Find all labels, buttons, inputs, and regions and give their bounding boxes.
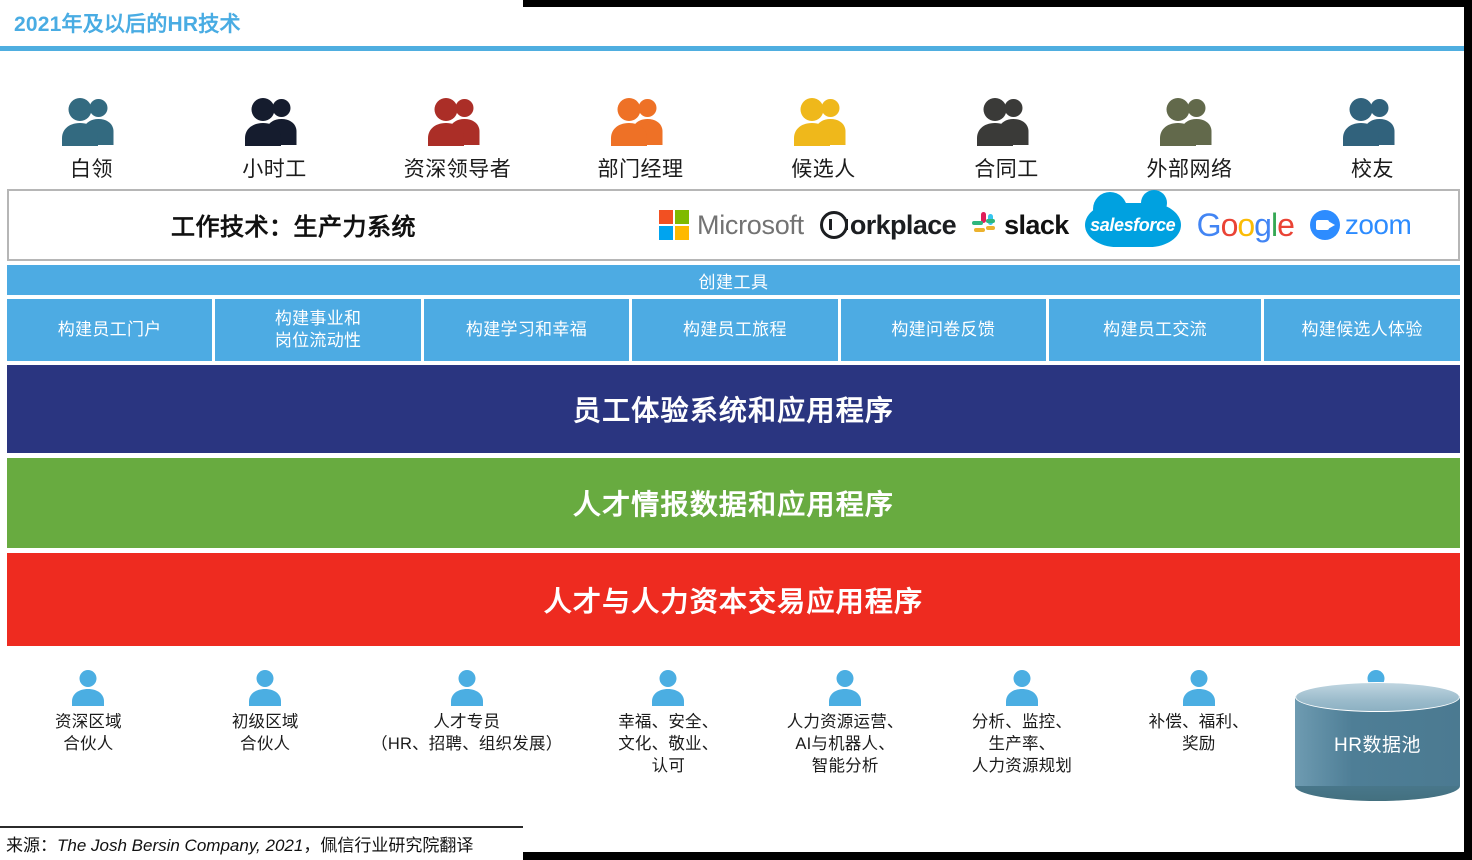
- person-icon: [68, 668, 108, 708]
- role-label: 初级区域 合伙人: [232, 712, 299, 756]
- person-icon: [825, 668, 865, 708]
- people-pair-icon: [975, 95, 1039, 149]
- role-item: 补偿、福利、 奖励: [1110, 660, 1287, 756]
- header: 2021年及以后的HR技术: [0, 4, 523, 44]
- persona-item: 外部网络: [1098, 95, 1281, 185]
- role-item: 资深区域 合伙人: [0, 660, 177, 756]
- zoom-logo: zoom: [1310, 209, 1411, 241]
- persona-label: 小时工: [242, 153, 307, 183]
- role-label: 人才专员 （HR、招聘、组织发展）: [371, 712, 562, 756]
- microsoft-squares-icon: [659, 210, 689, 240]
- create-tool-cell[interactable]: 构建问卷反馈: [841, 299, 1046, 361]
- workplace-mark-icon: [820, 211, 848, 239]
- persona-label: 白领: [70, 153, 113, 183]
- slack-logo-text: slack: [1004, 210, 1069, 241]
- create-tools-heading: 创建工具: [7, 265, 1460, 295]
- role-label: 资深区域 合伙人: [55, 712, 122, 756]
- logo-strip: Microsoft orkplace slack sa: [659, 191, 1411, 259]
- source-note: 来源：The Josh Bersin Company, 2021，佩信行业研究院…: [6, 831, 706, 856]
- persona-label: 候选人: [791, 153, 856, 183]
- workplace-logo: orkplace: [820, 210, 956, 241]
- page-title: 2021年及以后的HR技术: [14, 8, 241, 38]
- right-black-strip: [1464, 0, 1472, 860]
- layer-band-talent-intelligence: 人才情报数据和应用程序: [7, 458, 1460, 548]
- persona-label: 校友: [1351, 153, 1394, 183]
- people-pair-icon: [426, 95, 490, 149]
- header-divider: [0, 46, 1464, 51]
- source-name: The Josh Bersin Company, 2021: [57, 836, 303, 855]
- salesforce-logo: salesforce: [1085, 203, 1181, 247]
- salesforce-cloud-icon: salesforce: [1085, 203, 1181, 247]
- slide-canvas: 2021年及以后的HR技术 白领小时工资深领导者部门经理候选人合同工外部网络校友…: [0, 0, 1472, 860]
- work-tech-panel: 工作技术：生产力系统 Microsoft orkplace: [7, 189, 1460, 261]
- people-pair-icon: [1341, 95, 1405, 149]
- people-pair-icon: [60, 95, 124, 149]
- create-tool-cell[interactable]: 构建员工交流: [1049, 299, 1261, 361]
- roles-row: 资深区域 合伙人初级区域 合伙人人才专员 （HR、招聘、组织发展）幸福、安全、 …: [0, 660, 1464, 820]
- layer-band-employee-experience: 员工体验系统和应用程序: [7, 365, 1460, 453]
- cylinder-top: [1295, 682, 1460, 712]
- role-label: 人力资源运营、 AI与机器人、 智能分析: [787, 712, 904, 778]
- role-label: 补偿、福利、 奖励: [1149, 712, 1249, 756]
- google-letter: g: [1254, 207, 1271, 243]
- person-icon: [447, 668, 487, 708]
- create-tool-cell[interactable]: 构建学习和幸福: [424, 299, 629, 361]
- people-pair-icon: [243, 95, 307, 149]
- persona-item: 白领: [0, 95, 183, 185]
- role-item: 分析、监控、 生产率、 人力资源规划: [934, 660, 1111, 778]
- create-tool-cell[interactable]: 构建候选人体验: [1264, 299, 1460, 361]
- persona-item: 部门经理: [549, 95, 732, 185]
- create-tools-cells: 构建员工门户构建事业和 岗位流动性构建学习和幸福构建员工旅程构建问卷反馈构建员工…: [7, 299, 1460, 361]
- persona-label: 部门经理: [598, 153, 684, 183]
- layer-band-talent-transactions: 人才与人力资本交易应用程序: [7, 553, 1460, 646]
- role-item: 幸福、安全、 文化、敬业、 认可: [580, 660, 757, 778]
- role-item: 人力资源运营、 AI与机器人、 智能分析: [757, 660, 934, 778]
- microsoft-logo-text: Microsoft: [697, 210, 804, 241]
- footer-divider: [0, 826, 523, 828]
- microsoft-logo: Microsoft: [659, 210, 804, 241]
- hr-data-pool: HR数据池: [1295, 682, 1460, 800]
- persona-item: 资深领导者: [366, 95, 549, 185]
- persona-item: 校友: [1281, 95, 1464, 185]
- persona-item: 小时工: [183, 95, 366, 185]
- persona-row: 白领小时工资深领导者部门经理候选人合同工外部网络校友: [0, 62, 1464, 185]
- person-icon: [648, 668, 688, 708]
- google-logo-text: Google: [1197, 207, 1294, 244]
- people-pair-icon: [792, 95, 856, 149]
- google-letter: o: [1237, 207, 1254, 243]
- google-letter: o: [1221, 207, 1238, 243]
- source-suffix: ，佩信行业研究院翻译: [303, 836, 473, 855]
- work-tech-title: 工作技术：生产力系统: [171, 207, 416, 242]
- persona-label: 合同工: [974, 153, 1039, 183]
- role-item: 人才专员 （HR、招聘、组织发展）: [354, 660, 580, 756]
- google-logo: Google: [1197, 207, 1294, 244]
- create-tool-cell[interactable]: 构建员工门户: [7, 299, 212, 361]
- zoom-camera-icon: [1310, 210, 1340, 240]
- slack-hash-icon: [972, 212, 999, 239]
- people-pair-icon: [609, 95, 673, 149]
- role-label: 分析、监控、 生产率、 人力资源规划: [972, 712, 1072, 778]
- create-tool-cell[interactable]: 构建事业和 岗位流动性: [215, 299, 420, 361]
- salesforce-logo-text: salesforce: [1090, 215, 1175, 236]
- workplace-logo-text: orkplace: [850, 210, 956, 241]
- create-tool-cell[interactable]: 构建员工旅程: [632, 299, 837, 361]
- persona-item: 合同工: [915, 95, 1098, 185]
- people-pair-icon: [1158, 95, 1222, 149]
- person-icon: [1179, 668, 1219, 708]
- google-letter: e: [1277, 207, 1294, 243]
- persona-item: 候选人: [732, 95, 915, 185]
- source-prefix: 来源：: [6, 836, 57, 855]
- role-item: 初级区域 合伙人: [177, 660, 354, 756]
- persona-label: 资深领导者: [404, 153, 512, 183]
- zoom-logo-text: zoom: [1345, 209, 1411, 241]
- slack-logo: slack: [972, 210, 1069, 241]
- google-letter: G: [1197, 207, 1221, 243]
- top-black-strip: [523, 0, 1472, 7]
- person-icon: [245, 668, 285, 708]
- role-label: 幸福、安全、 文化、敬业、 认可: [618, 712, 718, 778]
- person-icon: [1002, 668, 1042, 708]
- hr-data-pool-label: HR数据池: [1295, 730, 1460, 757]
- persona-label: 外部网络: [1147, 153, 1233, 183]
